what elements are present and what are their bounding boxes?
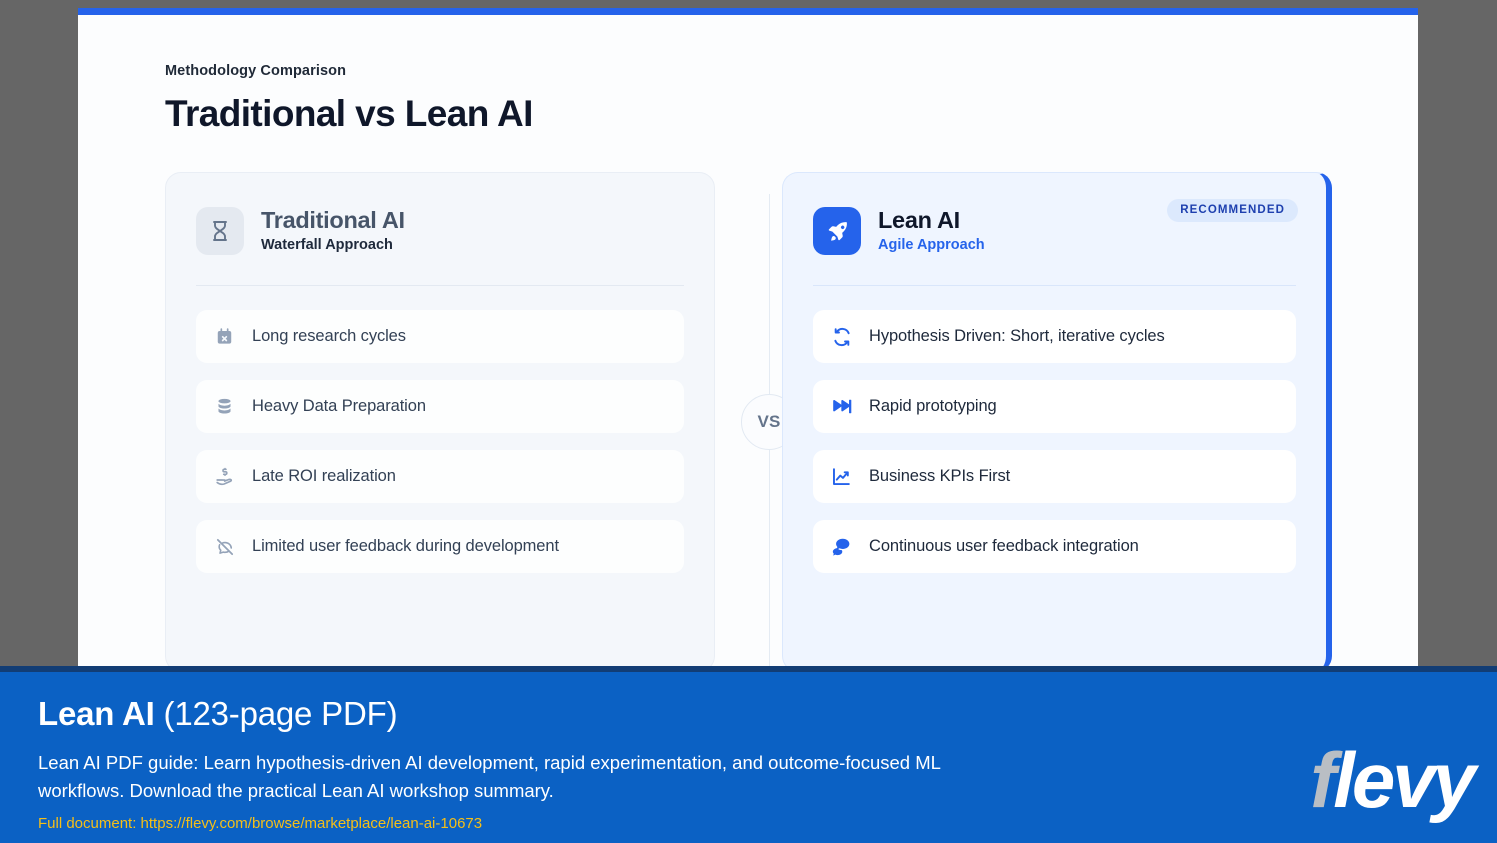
page-eyebrow: Methodology Comparison xyxy=(165,63,1265,80)
list-item[interactable]: Long research cycles xyxy=(196,310,684,363)
lean-ai-card: RECOMMENDED Lean AI Agile Approach xyxy=(782,172,1332,672)
list-item[interactable]: Late ROI realization xyxy=(196,450,684,503)
comparison-area: Traditional AI Waterfall Approach xyxy=(165,172,1335,692)
list-item[interactable]: Limited user feedback during development xyxy=(196,520,684,573)
list-item-label: Hypothesis Driven: Short, iterative cycl… xyxy=(869,327,1165,347)
banner-title-bold: Lean AI xyxy=(38,695,155,732)
traditional-card-title: Traditional AI xyxy=(261,208,405,234)
lean-card-title: Lean AI xyxy=(878,208,985,234)
flevy-logo-rest: levy xyxy=(1333,736,1473,824)
banner-description: Lean AI PDF guide: Learn hypothesis-driv… xyxy=(38,749,1023,805)
list-item-label: Limited user feedback during development xyxy=(252,537,559,557)
banner-title: Lean AI (123-page PDF) xyxy=(38,696,1218,732)
list-item[interactable]: Rapid prototyping xyxy=(813,380,1296,433)
slide-page: Methodology Comparison Traditional vs Le… xyxy=(78,8,1418,708)
hourglass-icon xyxy=(196,207,244,255)
refresh-cycle-icon xyxy=(831,326,852,347)
calendar-x-icon xyxy=(214,326,235,347)
traditional-ai-card: Traditional AI Waterfall Approach xyxy=(165,172,715,672)
lean-card-divider xyxy=(813,285,1296,286)
flevy-logo-f: f xyxy=(1310,736,1333,824)
flevy-logo: flevy xyxy=(1310,741,1473,819)
list-item[interactable]: Business KPIs First xyxy=(813,450,1296,503)
message-off-icon xyxy=(214,536,235,557)
fast-forward-icon xyxy=(831,396,852,417)
banner-document-link[interactable]: Full document: https://flevy.com/browse/… xyxy=(38,814,1218,834)
list-item-label: Continuous user feedback integration xyxy=(869,537,1139,557)
traditional-card-divider xyxy=(196,285,684,286)
chart-line-icon xyxy=(831,466,852,487)
lean-items-list: Hypothesis Driven: Short, iterative cycl… xyxy=(813,310,1296,573)
hand-holding-dollar-icon xyxy=(214,466,235,487)
list-item[interactable]: Heavy Data Preparation xyxy=(196,380,684,433)
list-item[interactable]: Hypothesis Driven: Short, iterative cycl… xyxy=(813,310,1296,363)
traditional-card-header: Traditional AI Waterfall Approach xyxy=(196,199,684,263)
recommended-badge: RECOMMENDED xyxy=(1167,199,1298,222)
database-icon xyxy=(214,396,235,417)
page-accent-bar xyxy=(78,8,1418,15)
page-title: Traditional vs Lean AI xyxy=(165,93,1265,136)
traditional-items-list: Long research cycles Heavy Data Preparat… xyxy=(196,310,684,573)
list-item-label: Business KPIs First xyxy=(869,467,1010,487)
page-header: Methodology Comparison Traditional vs Le… xyxy=(165,63,1265,136)
lean-card-subtitle: Agile Approach xyxy=(878,238,985,254)
banner-title-rest: (123-page PDF) xyxy=(155,695,398,732)
list-item-label: Heavy Data Preparation xyxy=(252,397,426,417)
traditional-card-subtitle: Waterfall Approach xyxy=(261,238,405,254)
list-item-label: Rapid prototyping xyxy=(869,397,997,417)
list-item-label: Long research cycles xyxy=(252,327,406,347)
rocket-icon xyxy=(813,207,861,255)
list-item[interactable]: Continuous user feedback integration xyxy=(813,520,1296,573)
flevy-promo-banner: Lean AI (123-page PDF) Lean AI PDF guide… xyxy=(0,666,1497,843)
banner-text-block: Lean AI (123-page PDF) Lean AI PDF guide… xyxy=(38,696,1218,833)
list-item-label: Late ROI realization xyxy=(252,467,396,487)
chat-bubbles-icon xyxy=(831,536,852,557)
screenshot-root: Methodology Comparison Traditional vs Le… xyxy=(0,0,1497,843)
